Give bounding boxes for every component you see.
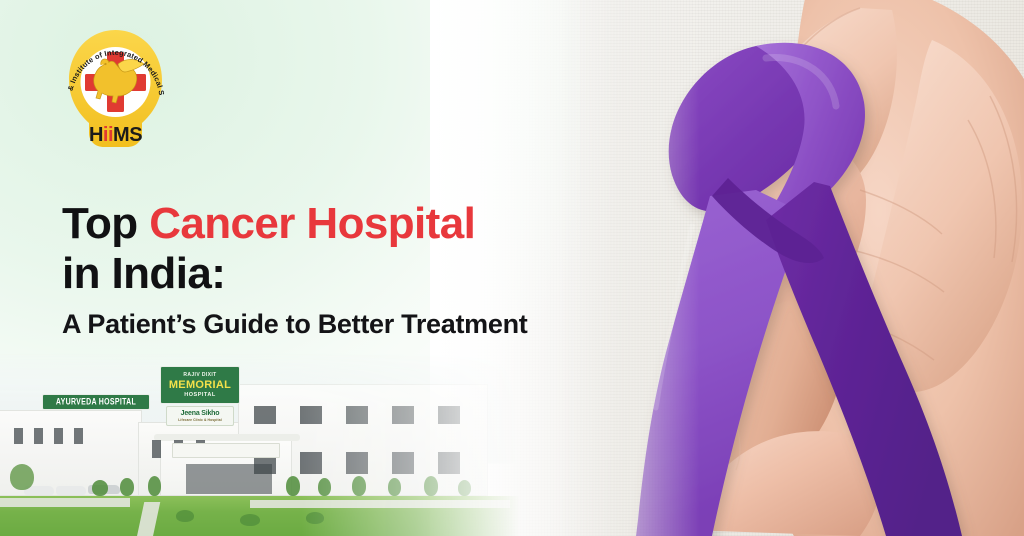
photo-shrub — [240, 514, 260, 526]
sign-jeena-sikho-line1: Jeena Sikho — [181, 409, 220, 418]
photo-walkway — [0, 498, 130, 507]
sign-ayurveda-text: AYURVEDA HOSPITAL — [56, 398, 136, 407]
photo-window — [34, 428, 43, 444]
svg-text:HiiMS: HiiMS — [89, 124, 142, 146]
sign-memorial-line2: MEMORIAL — [169, 379, 231, 391]
blog-banner: Hospital & Institute of Integrated Medic… — [0, 0, 1024, 536]
photo-shrub — [176, 510, 194, 522]
logo-wordmark: HiiMS — [89, 124, 142, 146]
sign-memorial-line3: HOSPITAL — [184, 391, 215, 399]
page-title-line-1: Top Cancer Hospital — [62, 199, 642, 249]
photo-entrance-opening — [186, 464, 272, 494]
photo-shrub — [318, 478, 331, 496]
photo-shrub — [120, 478, 134, 496]
photo-shrub — [458, 480, 471, 496]
sign-jeena-sikho: Jeena Sikho Lifecare Clinic & Hospital — [166, 406, 234, 426]
photo-shrub — [148, 476, 161, 496]
photo-window — [152, 440, 161, 458]
photo-shrub — [92, 480, 108, 496]
photo-car — [56, 486, 86, 495]
sign-memorial-line1: RAJIV DIXIT — [183, 372, 216, 379]
headline-block: Top Cancer Hospital in India: A Patient’… — [62, 199, 642, 341]
page-title-line-2: in India: — [62, 249, 642, 299]
sign-ayurveda-hospital: AYURVEDA HOSPITAL — [42, 394, 150, 410]
sign-rajiv-dixit-memorial: RAJIV DIXIT MEMORIAL HOSPITAL — [160, 366, 240, 404]
photo-window — [54, 428, 63, 444]
photo-shrub — [286, 476, 300, 496]
title-accent-cancer-hospital: Cancer Hospital — [149, 199, 475, 248]
photo-walkway — [250, 500, 510, 508]
hiims-logo[interactable]: Hospital & Institute of Integrated Medic… — [58, 28, 173, 153]
hiims-logo-icon: Hospital & Institute of Integrated Medic… — [58, 28, 173, 153]
photo-window — [14, 428, 23, 444]
photo-window — [74, 428, 83, 444]
photo-window — [346, 452, 368, 474]
title-plain-top: Top — [62, 199, 149, 248]
page-subtitle: A Patient’s Guide to Better Treatment — [62, 307, 642, 341]
photo-window — [438, 452, 460, 474]
photo-shrub — [424, 476, 438, 496]
photo-window — [438, 406, 460, 424]
photo-window — [300, 452, 322, 474]
photo-tree — [10, 464, 34, 490]
photo-shrub — [388, 478, 401, 496]
photo-window — [392, 406, 414, 424]
sign-entrance-banner — [172, 443, 280, 458]
sign-jeena-sikho-line2: Lifecare Clinic & Hospital — [178, 418, 222, 423]
photo-window — [392, 452, 414, 474]
photo-shrub — [352, 476, 366, 496]
photo-window — [346, 406, 368, 424]
photo-shrub — [306, 512, 324, 524]
photo-window — [254, 406, 276, 424]
photo-window — [300, 406, 322, 424]
